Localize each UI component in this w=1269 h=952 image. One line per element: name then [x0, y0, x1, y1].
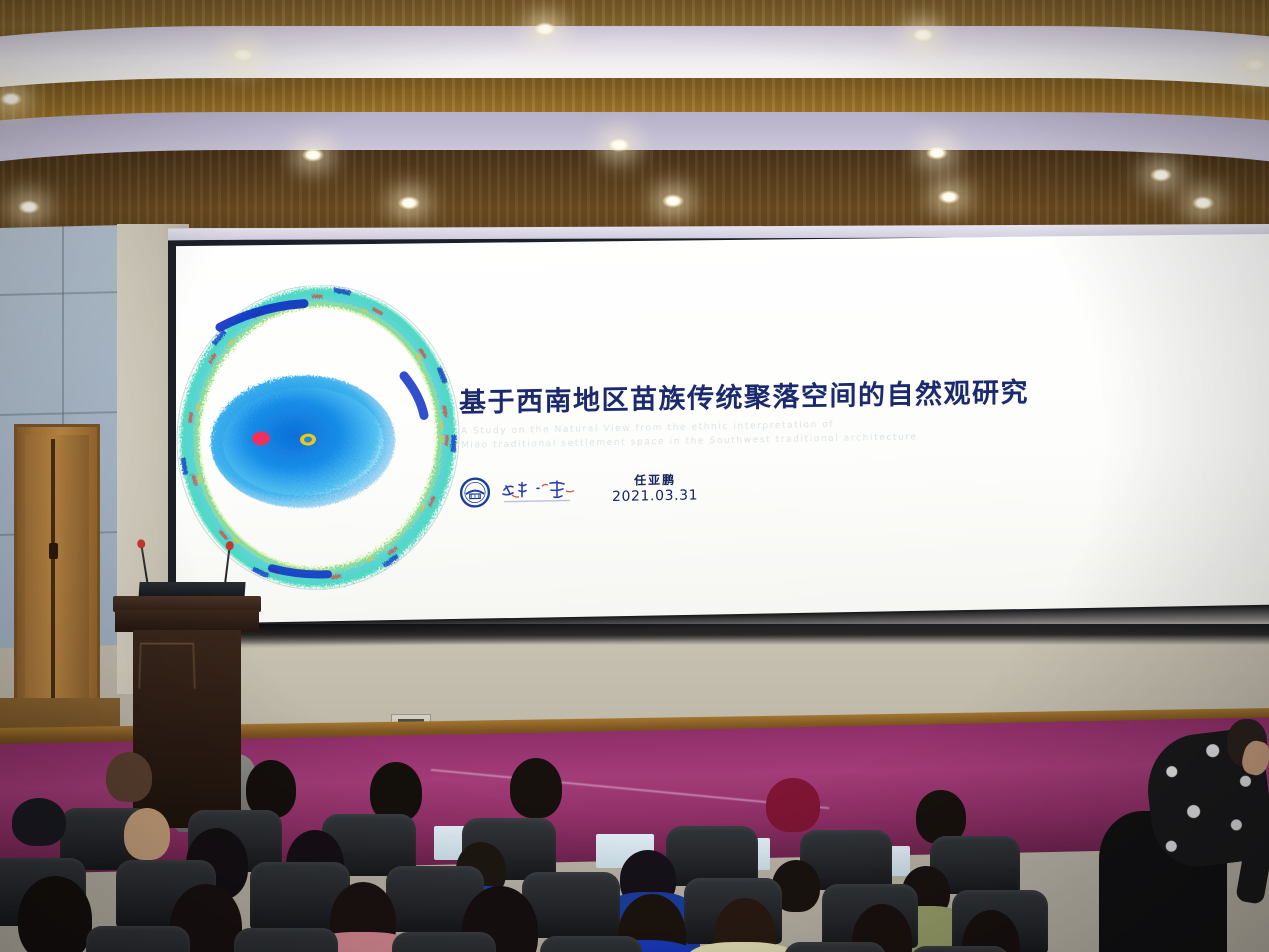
podium-cornice [115, 610, 259, 632]
projection-screen[interactable]: 基于西南地区苗族传统聚落空间的自然观研究 A Study on the Natu… [176, 234, 1269, 638]
university-seal-icon [460, 477, 490, 508]
presentation-date: 2021.03.31 [612, 487, 698, 506]
lecture-hall-photo: 基于西南地区苗族传统聚落空间的自然观研究 A Study on the Natu… [0, 0, 1269, 952]
standing-attendee [1091, 715, 1269, 952]
door-handle-icon[interactable] [49, 543, 58, 559]
podium [113, 596, 261, 828]
side-door[interactable] [14, 424, 100, 714]
presenter-name: 任亚鹏 [612, 472, 698, 488]
university-wordmark [500, 476, 586, 506]
abstract-ring-artwork [176, 283, 468, 594]
slide-footer: 任亚鹏 2021.03.31 [460, 472, 698, 508]
auditorium-ceiling [0, 0, 1269, 250]
slide-subtitle: A Study on the Natural View from the eth… [461, 413, 1101, 453]
door-leaf[interactable] [25, 435, 89, 711]
auditorium-room: 基于西南地区苗族传统聚落空间的自然观研究 A Study on the Natu… [0, 228, 1269, 952]
slide-byline: 任亚鹏 2021.03.31 [612, 472, 698, 505]
slide-title: 基于西南地区苗族传统聚落空间的自然观研究 [459, 368, 1139, 419]
podium-front-panel [138, 643, 196, 689]
door-gap [51, 439, 55, 711]
